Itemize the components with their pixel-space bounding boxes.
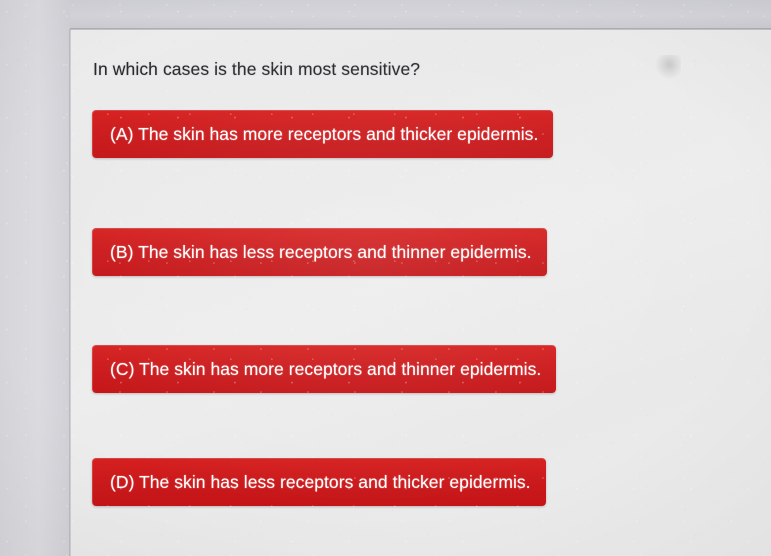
content-sheet-top-edge: [70, 28, 771, 30]
answer-option-c-label: (C) The skin has more receptors and thin…: [110, 359, 541, 380]
answer-option-d-label: (D) The skin has less receptors and thic…: [110, 472, 531, 493]
quiz-screenshot: In which cases is the skin most sensitiv…: [0, 0, 771, 556]
content-sheet-left-edge: [69, 29, 71, 556]
answer-option-a-label: (A) The skin has more receptors and thic…: [110, 124, 538, 145]
answer-option-d[interactable]: (D) The skin has less receptors and thic…: [92, 458, 546, 506]
answer-option-c[interactable]: (C) The skin has more receptors and thin…: [92, 345, 556, 393]
question-text: In which cases is the skin most sensitiv…: [93, 58, 633, 80]
photo-backdrop-top-strip: [0, 0, 771, 29]
photo-backdrop-left-strip: [0, 0, 70, 556]
answer-option-b-label: (B) The skin has less receptors and thin…: [110, 242, 532, 263]
answer-option-b[interactable]: (B) The skin has less receptors and thin…: [92, 228, 547, 276]
answer-option-a[interactable]: (A) The skin has more receptors and thic…: [92, 110, 553, 158]
